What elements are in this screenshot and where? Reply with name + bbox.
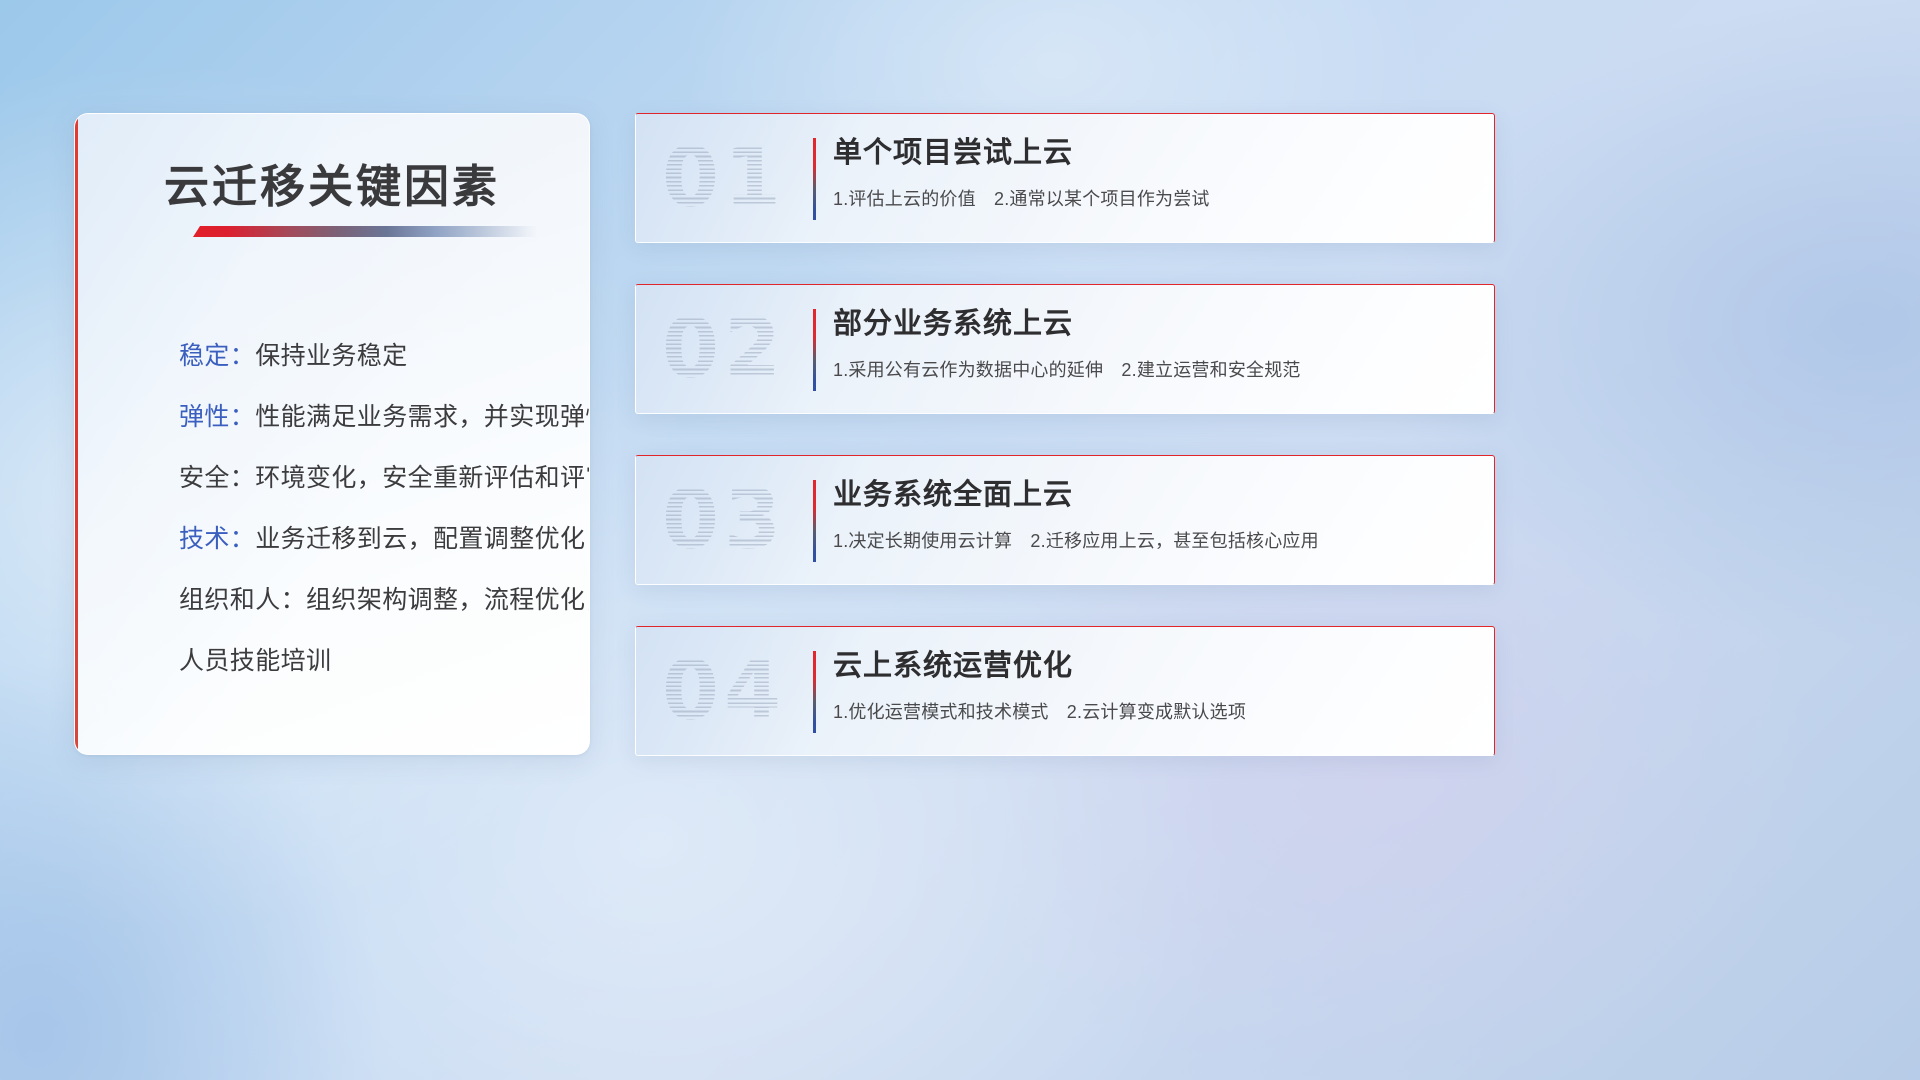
factor-text: 人员技能培训 bbox=[179, 647, 331, 675]
factor-label: 弹性： bbox=[179, 403, 255, 431]
key-factors-panel: 云迁移关键因素 稳定：保持业务稳定 弹性：性能满足业务需求，并实现弹性 安全：环… bbox=[74, 113, 590, 755]
factor-label: 稳定： bbox=[179, 342, 255, 370]
factor-text: 性能满足业务需求，并实现弹性 bbox=[255, 403, 590, 431]
factor-label: 安全： bbox=[179, 464, 255, 492]
step-number-watermark: 04 bbox=[662, 644, 786, 739]
factor-row: 人员技能培训 bbox=[179, 631, 571, 692]
step-card[interactable]: 01 单个项目尝试上云 1.评估上云的价值 2.通常以某个项目作为尝试 bbox=[635, 113, 1495, 243]
title-underline-bar bbox=[193, 226, 538, 237]
step-content: 部分业务系统上云 1.采用公有云作为数据中心的延伸 2.建立运营和安全规范 bbox=[833, 303, 1480, 382]
step-title: 云上系统运营优化 bbox=[833, 645, 1480, 685]
factor-text: 组织架构调整，流程优化， bbox=[306, 586, 590, 614]
step-number-watermark: 03 bbox=[662, 473, 786, 568]
factor-row: 技术：业务迁移到云，配置调整优化 bbox=[179, 509, 571, 570]
migration-steps-list: 01 单个项目尝试上云 1.评估上云的价值 2.通常以某个项目作为尝试 02 部… bbox=[635, 113, 1860, 797]
step-description: 1.优化运营模式和技术模式 2.云计算变成默认选项 bbox=[833, 698, 1480, 724]
factor-text: 业务迁移到云，配置调整优化 bbox=[255, 525, 585, 553]
step-card[interactable]: 03 业务系统全面上云 1.决定长期使用云计算 2.迁移应用上云，甚至包括核心应… bbox=[635, 455, 1495, 585]
factor-row: 稳定：保持业务稳定 bbox=[179, 326, 571, 387]
step-accent-bar bbox=[813, 138, 816, 220]
factor-label: 组织和人： bbox=[179, 586, 306, 614]
step-title: 业务系统全面上云 bbox=[833, 474, 1480, 514]
step-number-watermark: 01 bbox=[662, 131, 786, 226]
factor-text: 保持业务稳定 bbox=[255, 342, 407, 370]
step-number-watermark: 02 bbox=[662, 302, 786, 397]
factor-list: 稳定：保持业务稳定 弹性：性能满足业务需求，并实现弹性 安全：环境变化，安全重新… bbox=[179, 326, 571, 692]
step-card[interactable]: 02 部分业务系统上云 1.采用公有云作为数据中心的延伸 2.建立运营和安全规范 bbox=[635, 284, 1495, 414]
step-description: 1.评估上云的价值 2.通常以某个项目作为尝试 bbox=[833, 185, 1480, 211]
step-content: 业务系统全面上云 1.决定长期使用云计算 2.迁移应用上云，甚至包括核心应用 bbox=[833, 474, 1480, 553]
step-accent-bar bbox=[813, 480, 816, 562]
step-card[interactable]: 04 云上系统运营优化 1.优化运营模式和技术模式 2.云计算变成默认选项 bbox=[635, 626, 1495, 756]
step-title: 部分业务系统上云 bbox=[833, 303, 1480, 343]
factor-text: 环境变化，安全重新评估和评审 bbox=[255, 464, 590, 492]
factor-row: 弹性：性能满足业务需求，并实现弹性 bbox=[179, 387, 571, 448]
step-title: 单个项目尝试上云 bbox=[833, 132, 1480, 172]
factor-label: 技术： bbox=[179, 525, 255, 553]
step-accent-bar bbox=[813, 309, 816, 391]
factor-row: 安全：环境变化，安全重新评估和评审 bbox=[179, 448, 571, 509]
factor-row: 组织和人：组织架构调整，流程优化， bbox=[179, 570, 571, 631]
step-accent-bar bbox=[813, 651, 816, 733]
step-content: 单个项目尝试上云 1.评估上云的价值 2.通常以某个项目作为尝试 bbox=[833, 132, 1480, 211]
step-content: 云上系统运营优化 1.优化运营模式和技术模式 2.云计算变成默认选项 bbox=[833, 645, 1480, 724]
step-description: 1.决定长期使用云计算 2.迁移应用上云，甚至包括核心应用 bbox=[833, 527, 1480, 553]
page-title: 云迁移关键因素 bbox=[75, 150, 589, 215]
step-description: 1.采用公有云作为数据中心的延伸 2.建立运营和安全规范 bbox=[833, 356, 1480, 382]
